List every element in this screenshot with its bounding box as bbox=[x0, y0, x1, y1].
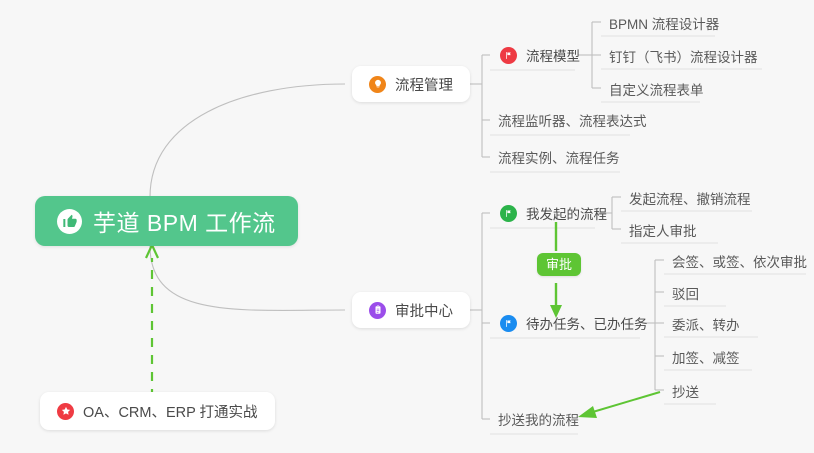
node-label: 流程实例、流程任务 bbox=[498, 147, 620, 167]
node-label: 抄送 bbox=[672, 381, 699, 401]
node-cc[interactable]: 抄送 bbox=[664, 376, 707, 406]
node-label: 我发起的流程 bbox=[526, 203, 607, 223]
annotation-badge-approval: 审批 bbox=[537, 253, 581, 276]
annotation-label: 审批 bbox=[546, 257, 572, 272]
thumbs-up-icon bbox=[57, 209, 82, 234]
node-label: 抄送我的流程 bbox=[498, 409, 579, 429]
footer-node-label: OA、CRM、ERP 打通实战 bbox=[83, 401, 258, 422]
node-dingtalk-feishu-designer[interactable]: 钉钉（飞书）流程设计器 bbox=[601, 41, 766, 71]
node-label: 会签、或签、依次审批 bbox=[672, 251, 807, 271]
mindmap-canvas: 芋道 BPM 工作流 流程管理 流程模型 BPMN 流程设计器 钉钉（飞书）流程… bbox=[0, 0, 814, 453]
node-bpmn-designer[interactable]: BPMN 流程设计器 bbox=[601, 8, 727, 38]
branch-label: 审批中心 bbox=[395, 300, 453, 321]
root-label: 芋道 BPM 工作流 bbox=[93, 204, 276, 238]
lightbulb-icon bbox=[369, 76, 386, 93]
node-label: BPMN 流程设计器 bbox=[609, 13, 719, 33]
node-label: 自定义流程表单 bbox=[609, 79, 704, 99]
node-label: 委派、转办 bbox=[672, 314, 740, 334]
node-listener-expression[interactable]: 流程监听器、流程表达式 bbox=[490, 105, 655, 135]
node-label: 驳回 bbox=[672, 283, 699, 303]
node-label: 发起流程、撤销流程 bbox=[629, 188, 751, 208]
node-start-cancel[interactable]: 发起流程、撤销流程 bbox=[621, 183, 759, 213]
node-countersign[interactable]: 会签、或签、依次审批 bbox=[664, 246, 814, 276]
node-label: 流程监听器、流程表达式 bbox=[498, 110, 647, 130]
node-reject[interactable]: 驳回 bbox=[664, 278, 707, 308]
flag-icon bbox=[500, 315, 517, 332]
node-todo-done[interactable]: 待办任务、已办任务 bbox=[492, 308, 656, 338]
node-label: 指定人审批 bbox=[629, 220, 697, 240]
branch-node-approval-center[interactable]: 审批中心 bbox=[352, 292, 470, 328]
branch-node-process-management[interactable]: 流程管理 bbox=[352, 66, 470, 102]
node-assignee-approval[interactable]: 指定人审批 bbox=[621, 215, 705, 245]
node-label: 加签、减签 bbox=[672, 347, 740, 367]
clipboard-icon bbox=[369, 302, 386, 319]
node-label: 流程模型 bbox=[526, 45, 580, 65]
node-label: 钉钉（飞书）流程设计器 bbox=[609, 46, 758, 66]
star-icon bbox=[57, 403, 74, 420]
flag-icon bbox=[500, 47, 517, 64]
node-custom-process-form[interactable]: 自定义流程表单 bbox=[601, 74, 712, 104]
node-process-model[interactable]: 流程模型 bbox=[492, 40, 588, 70]
node-add-remove-sign[interactable]: 加签、减签 bbox=[664, 342, 748, 372]
footer-node-integration-practice[interactable]: OA、CRM、ERP 打通实战 bbox=[40, 392, 275, 430]
root-node[interactable]: 芋道 BPM 工作流 bbox=[35, 196, 298, 246]
node-instance-task[interactable]: 流程实例、流程任务 bbox=[490, 142, 628, 172]
node-my-initiated[interactable]: 我发起的流程 bbox=[492, 198, 615, 228]
flag-icon bbox=[500, 205, 517, 222]
branch-label: 流程管理 bbox=[395, 74, 453, 95]
node-label: 待办任务、已办任务 bbox=[526, 313, 648, 333]
node-cc-to-me[interactable]: 抄送我的流程 bbox=[490, 404, 587, 434]
node-delegate-transfer[interactable]: 委派、转办 bbox=[664, 309, 748, 339]
